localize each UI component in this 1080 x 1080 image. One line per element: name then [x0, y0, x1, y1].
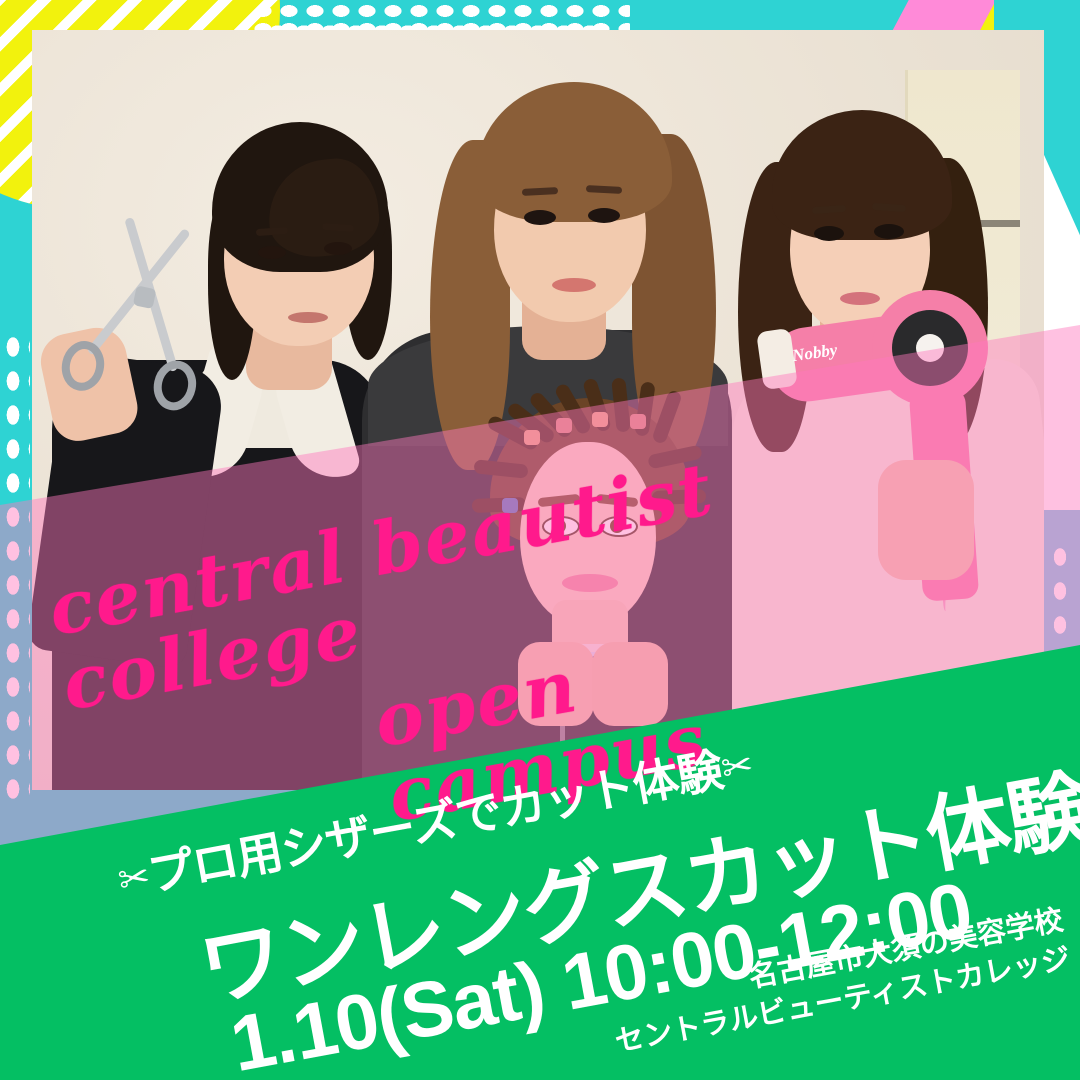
- polka-dots-left-edge: [2, 330, 30, 810]
- perm-rod-cap: [524, 430, 540, 445]
- hair-dryer-center-cap: [916, 334, 944, 362]
- student-left-mouth: [288, 312, 328, 323]
- student-center-eye: [524, 210, 556, 225]
- student-right-eye: [814, 226, 844, 241]
- student-right-mouth: [840, 292, 880, 305]
- student-right-eye: [874, 224, 904, 239]
- student-left-eye: [258, 246, 286, 259]
- poster-canvas: 906DE2 Nobby central beautist college op…: [0, 0, 1080, 1080]
- perm-rod-cap: [592, 412, 608, 427]
- student-center-eye: [588, 208, 620, 223]
- student-center-mouth: [552, 278, 596, 292]
- perm-rod-cap: [556, 418, 572, 433]
- student-left-eye: [324, 242, 352, 255]
- perm-rod-cap: [630, 414, 646, 429]
- student-right-hand: [878, 460, 974, 580]
